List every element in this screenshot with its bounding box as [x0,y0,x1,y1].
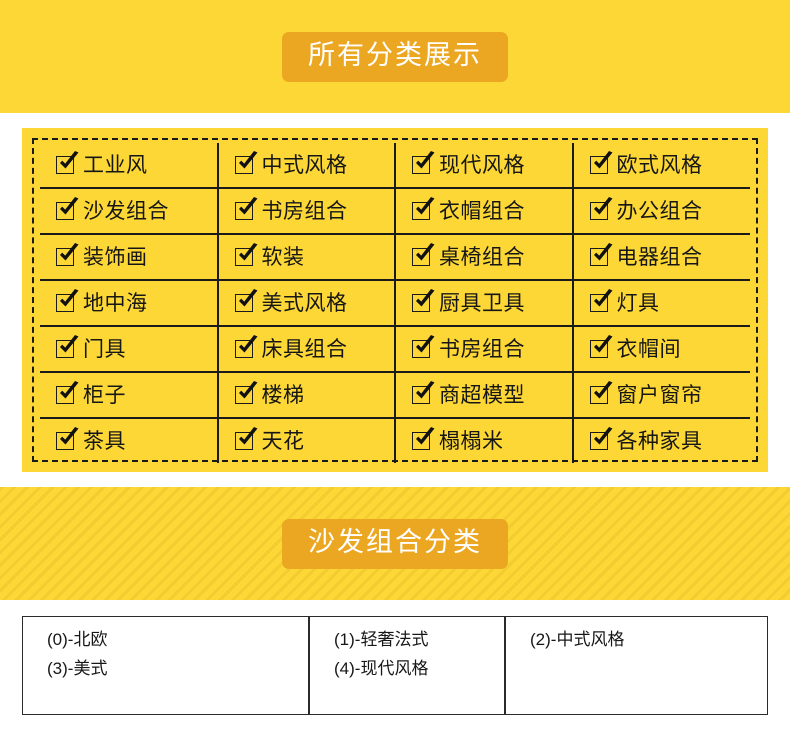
second-banner-title: 沙发组合分类 [282,519,508,569]
category-cell[interactable]: 衣帽间 [573,326,751,372]
top-banner: 所有分类展示 [0,0,790,113]
checkmark-icon[interactable] [590,386,608,404]
top-banner-title: 所有分类展示 [282,32,508,82]
category-cell[interactable]: 办公组合 [573,188,751,234]
checkmark-icon[interactable] [235,248,253,266]
category-label: 衣帽组合 [439,201,525,222]
checkmark-icon[interactable] [590,340,608,358]
category-label: 现代风格 [439,155,525,176]
checkmark-icon[interactable] [235,432,253,450]
category-cell[interactable]: 各种家具 [573,418,751,463]
table-row: 地中海 美式风格 厨具卫具 灯具 [40,280,750,326]
checkmark-icon[interactable] [235,386,253,404]
category-label: 沙发组合 [83,201,169,222]
category-label: 门具 [83,339,126,360]
category-cell[interactable]: 楼梯 [218,372,396,418]
table-row: 柜子 楼梯 商超模型 窗户窗帘 [40,372,750,418]
list-item[interactable]: (4)-现代风格 [334,660,504,677]
category-cell[interactable]: 美式风格 [218,280,396,326]
checkmark-icon[interactable] [412,294,430,312]
category-label: 衣帽间 [617,339,682,360]
checkmark-icon[interactable] [56,156,74,174]
category-label: 桌椅组合 [439,247,525,268]
checkmark-icon[interactable] [590,156,608,174]
category-cell[interactable]: 软装 [218,234,396,280]
checkmark-icon[interactable] [235,340,253,358]
category-grid-dashed-border: 工业风 中式风格 现代风格 欧式风格 沙发组合 书房组合 衣帽组合 办公组合 装… [32,138,758,462]
category-cell[interactable]: 厨具卫具 [395,280,573,326]
subcategory-column: (1)-轻奢法式 (4)-现代风格 [308,617,504,714]
category-cell[interactable]: 茶具 [40,418,218,463]
checkmark-icon[interactable] [56,294,74,312]
category-cell[interactable]: 书房组合 [218,188,396,234]
category-cell[interactable]: 衣帽组合 [395,188,573,234]
list-item[interactable]: (2)-中式风格 [530,631,767,648]
category-label: 欧式风格 [617,155,703,176]
checkmark-icon[interactable] [56,248,74,266]
checkmark-icon[interactable] [590,202,608,220]
category-cell[interactable]: 中式风格 [218,143,396,188]
category-label: 书房组合 [439,339,525,360]
checkmark-icon[interactable] [235,156,253,174]
category-cell[interactable]: 书房组合 [395,326,573,372]
checkmark-icon[interactable] [56,386,74,404]
category-cell[interactable]: 灯具 [573,280,751,326]
category-grid-table: 工业风 中式风格 现代风格 欧式风格 沙发组合 书房组合 衣帽组合 办公组合 装… [40,143,750,463]
table-row: 门具 床具组合 书房组合 衣帽间 [40,326,750,372]
table-row: 沙发组合 书房组合 衣帽组合 办公组合 [40,188,750,234]
list-item[interactable]: (1)-轻奢法式 [334,631,504,648]
checkmark-icon[interactable] [412,248,430,266]
page-root: 所有分类展示 工业风 中式风格 现代风格 欧式风格 沙发组合 书房组合 衣帽组合 [0,0,790,729]
category-label: 楼梯 [262,385,305,406]
category-label: 茶具 [83,431,126,452]
category-label: 天花 [262,431,305,452]
checkmark-icon[interactable] [412,202,430,220]
checkmark-icon[interactable] [412,340,430,358]
category-label: 办公组合 [617,201,703,222]
category-label: 商超模型 [439,385,525,406]
list-item[interactable]: (3)-美式 [47,660,308,677]
category-cell[interactable]: 榻榻米 [395,418,573,463]
category-label: 柜子 [83,385,126,406]
category-cell[interactable]: 柜子 [40,372,218,418]
list-item[interactable]: (0)-北欧 [47,631,308,648]
category-label: 各种家具 [617,431,703,452]
category-label: 美式风格 [262,293,348,314]
category-cell[interactable]: 桌椅组合 [395,234,573,280]
checkmark-icon[interactable] [56,432,74,450]
checkmark-icon[interactable] [235,294,253,312]
subcategory-column: (0)-北欧 (3)-美式 [23,617,308,714]
category-label: 榻榻米 [439,431,504,452]
category-label: 中式风格 [262,155,348,176]
category-cell[interactable]: 电器组合 [573,234,751,280]
table-row: 工业风 中式风格 现代风格 欧式风格 [40,143,750,188]
subcategory-column: (2)-中式风格 [504,617,767,714]
category-cell[interactable]: 床具组合 [218,326,396,372]
checkmark-icon[interactable] [412,432,430,450]
checkmark-icon[interactable] [56,202,74,220]
checkmark-icon[interactable] [235,202,253,220]
checkmark-icon[interactable] [590,248,608,266]
category-label: 厨具卫具 [439,293,525,314]
category-cell[interactable]: 沙发组合 [40,188,218,234]
checkmark-icon[interactable] [412,156,430,174]
second-banner: 沙发组合分类 [0,487,790,600]
category-label: 床具组合 [262,339,348,360]
category-cell[interactable]: 工业风 [40,143,218,188]
category-cell[interactable]: 欧式风格 [573,143,751,188]
category-label: 灯具 [617,293,660,314]
checkmark-icon[interactable] [412,386,430,404]
category-grid-panel: 工业风 中式风格 现代风格 欧式风格 沙发组合 书房组合 衣帽组合 办公组合 装… [22,128,768,472]
category-label: 电器组合 [617,247,703,268]
category-cell[interactable]: 商超模型 [395,372,573,418]
category-cell[interactable]: 窗户窗帘 [573,372,751,418]
table-row: 装饰画 软装 桌椅组合 电器组合 [40,234,750,280]
checkmark-icon[interactable] [590,294,608,312]
category-cell[interactable]: 地中海 [40,280,218,326]
category-cell[interactable]: 现代风格 [395,143,573,188]
category-label: 工业风 [83,155,148,176]
category-cell[interactable]: 装饰画 [40,234,218,280]
category-label: 软装 [262,247,305,268]
category-cell[interactable]: 门具 [40,326,218,372]
category-label: 地中海 [83,293,148,314]
checkmark-icon[interactable] [56,340,74,358]
category-cell[interactable]: 天花 [218,418,396,463]
table-row: 茶具 天花 榻榻米 各种家具 [40,418,750,463]
subcategory-panel: (0)-北欧 (3)-美式 (1)-轻奢法式 (4)-现代风格 (2)-中式风格 [22,616,768,715]
category-label: 书房组合 [262,201,348,222]
category-label: 窗户窗帘 [617,385,703,406]
checkmark-icon[interactable] [590,432,608,450]
category-label: 装饰画 [83,247,148,268]
